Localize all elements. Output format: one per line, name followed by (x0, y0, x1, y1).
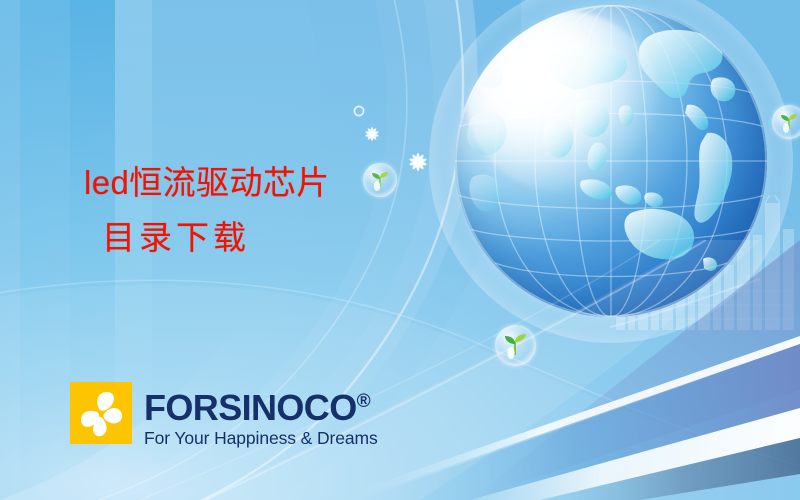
pinwheel-icon (70, 382, 132, 444)
logo-text-block: FORSINOCO® For Your Happiness & Dreams (144, 382, 378, 449)
forsinoco-pinwheel-mark (70, 382, 132, 444)
bubble-seedling-center (495, 325, 536, 366)
seedling-icon (772, 105, 800, 139)
brand-logo: FORSINOCO® For Your Happiness & Dreams (70, 382, 378, 449)
sparkle-flower-large (400, 144, 436, 180)
brand-word: FORSINOCO (144, 387, 357, 428)
brand-name: FORSINOCO® (144, 385, 378, 425)
seedling-icon (495, 325, 536, 366)
headline-line-2: 目录下载 (102, 221, 330, 254)
sparkle-flower-small (358, 120, 386, 148)
promo-banner: led恒流驱动芯片 目录下载 FORSINOCO® For Your Happi… (0, 0, 800, 500)
sparkle-dot (352, 104, 366, 118)
registered-mark: ® (357, 391, 371, 412)
brand-tagline: For Your Happiness & Dreams (144, 427, 378, 449)
headline: led恒流驱动芯片 目录下载 (84, 166, 330, 254)
seedling-icon (363, 163, 397, 197)
headline-line-1: led恒流驱动芯片 (84, 164, 330, 201)
diagonal-light-bands (0, 240, 800, 500)
bubble-seedling-left (363, 163, 397, 197)
bubble-seedling-right (772, 105, 800, 139)
